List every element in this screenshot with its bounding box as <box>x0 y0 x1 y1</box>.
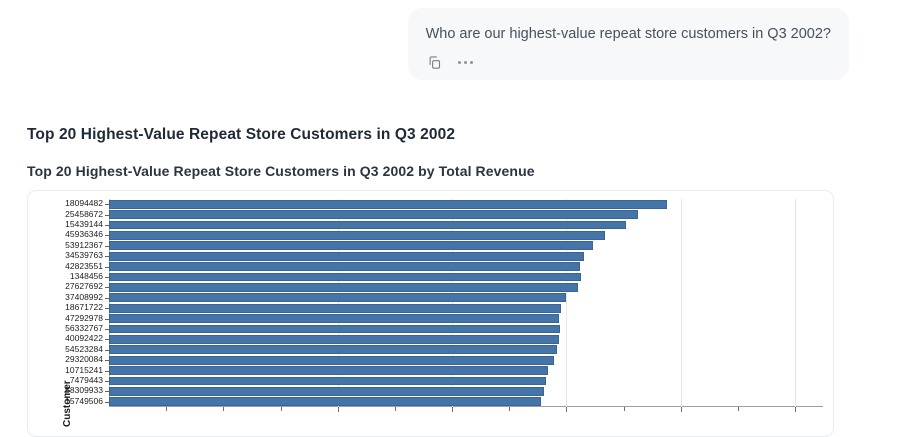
y-axis-tick-label: 40092422 <box>35 334 103 343</box>
y-axis-tick <box>105 360 109 361</box>
x-axis-major-tick <box>338 407 339 412</box>
bar[interactable] <box>109 397 541 406</box>
x-axis-minor-tick <box>223 407 224 411</box>
y-axis-tick-label: 15749506 <box>35 397 103 406</box>
y-axis-tick-label: 18094482 <box>35 199 103 208</box>
y-axis-tick-label: 56332767 <box>35 324 103 333</box>
bar[interactable] <box>109 335 559 344</box>
y-axis-tick-label: 45936346 <box>35 230 103 239</box>
y-axis-tick <box>105 225 109 226</box>
y-axis-tick <box>105 267 109 268</box>
bar[interactable] <box>109 200 667 209</box>
user-message-bubble: Who are our highest-value repeat store c… <box>408 8 849 80</box>
y-axis-tick-label: 10715241 <box>35 366 103 375</box>
chat-answer-page: Who are our highest-value repeat store c… <box>0 0 900 437</box>
bar[interactable] <box>109 366 548 375</box>
answer-title: Top 20 Highest-Value Repeat Store Custom… <box>27 126 455 144</box>
bar[interactable] <box>109 314 559 323</box>
y-axis-tick <box>105 350 109 351</box>
y-axis-tick-label: 18671722 <box>35 303 103 312</box>
y-axis-tick-label: 42823551 <box>35 262 103 271</box>
y-axis-tick-label: 27627692 <box>35 282 103 291</box>
y-axis-tick <box>105 215 109 216</box>
x-axis-major-tick <box>795 407 796 412</box>
chart-title: Top 20 Highest-Value Repeat Store Custom… <box>27 163 535 179</box>
y-axis-tick-label: 15439144 <box>35 220 103 229</box>
bar[interactable] <box>109 356 554 365</box>
bar[interactable] <box>109 262 580 271</box>
y-axis-tick-label: 58309933 <box>35 386 103 395</box>
y-axis-tick-label: 47292978 <box>35 314 103 323</box>
y-axis-tick-label: 34539763 <box>35 251 103 260</box>
y-axis-tick <box>105 402 109 403</box>
bar[interactable] <box>109 283 578 292</box>
y-axis-tick <box>105 204 109 205</box>
y-axis-tick <box>105 329 109 330</box>
x-gridline <box>681 199 682 407</box>
message-actions <box>426 52 831 72</box>
y-axis-tick <box>105 319 109 320</box>
bar[interactable] <box>109 377 546 386</box>
user-message-text: Who are our highest-value repeat store c… <box>426 24 831 44</box>
y-axis-tick-label: 29320084 <box>35 355 103 364</box>
y-axis-tick <box>105 256 109 257</box>
bar[interactable] <box>109 241 593 250</box>
more-options-icon[interactable] <box>456 61 475 64</box>
bar[interactable] <box>109 325 560 334</box>
y-axis-tick <box>105 287 109 288</box>
y-axis-tick-label: 1348456 <box>35 272 103 281</box>
chart-card: Customer 1809448225458672154391444593634… <box>27 190 834 437</box>
y-axis-tick-label: 7479443 <box>35 376 103 385</box>
x-axis-minor-tick <box>281 407 282 411</box>
y-axis-tick <box>105 298 109 299</box>
bar[interactable] <box>109 252 584 261</box>
y-axis-tick <box>105 381 109 382</box>
x-axis-minor-tick <box>395 407 396 411</box>
y-axis-tick <box>105 246 109 247</box>
x-axis-major-tick <box>566 407 567 412</box>
bar[interactable] <box>109 221 626 230</box>
x-axis-minor-tick <box>624 407 625 411</box>
bar[interactable] <box>109 293 566 302</box>
x-axis-minor-tick <box>509 407 510 411</box>
x-gridline <box>795 199 796 407</box>
x-axis-major-tick <box>452 407 453 412</box>
y-axis-tick <box>105 235 109 236</box>
y-axis-tick <box>105 391 109 392</box>
y-axis-tick-label: 25458672 <box>35 210 103 219</box>
bar[interactable] <box>109 231 605 240</box>
user-message-row: Who are our highest-value repeat store c… <box>0 0 900 80</box>
x-axis-minor-tick <box>738 407 739 411</box>
bar[interactable] <box>109 304 561 313</box>
x-axis-major-tick <box>681 407 682 412</box>
bar[interactable] <box>109 387 544 396</box>
bar[interactable] <box>109 345 557 354</box>
y-axis-tick <box>105 371 109 372</box>
bar[interactable] <box>109 273 581 282</box>
x-axis-minor-tick <box>166 407 167 411</box>
bar[interactable] <box>109 210 638 219</box>
y-axis-tick-label: 54523284 <box>35 345 103 354</box>
y-axis-tick <box>105 339 109 340</box>
y-axis-tick-label: 37408992 <box>35 293 103 302</box>
y-axis-tick-label: 53912367 <box>35 241 103 250</box>
y-axis-tick <box>105 277 109 278</box>
y-axis-tick <box>105 308 109 309</box>
bar-chart-plot: 1809448225458672154391444593634653912367… <box>109 199 823 427</box>
copy-icon[interactable] <box>426 53 444 71</box>
